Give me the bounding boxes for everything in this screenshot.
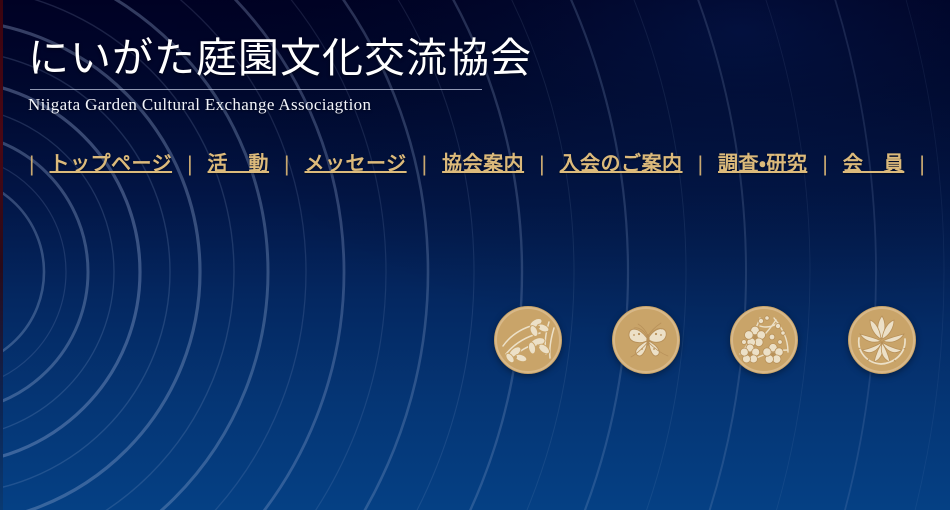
nav-join[interactable]: 入会のご案内 bbox=[546, 152, 697, 176]
left-edge-accent-stripe bbox=[0, 0, 3, 510]
bamboo-leaf-medallion-icon[interactable] bbox=[848, 306, 916, 374]
iris-flower-medallion-icon[interactable] bbox=[494, 306, 562, 374]
nav-separator: | bbox=[821, 154, 828, 175]
nav-message[interactable]: メッセージ bbox=[291, 152, 421, 176]
butterfly-crescent-moon-medallion-icon[interactable] bbox=[612, 306, 680, 374]
nav-research[interactable]: 調査・研究 bbox=[704, 152, 821, 176]
nav-separator: | bbox=[918, 154, 925, 175]
nav-members[interactable]: 会 員 bbox=[829, 152, 919, 176]
nav-separator: | bbox=[697, 154, 704, 175]
nav-separator: | bbox=[538, 154, 545, 175]
page-banner: にいがた庭園文化交流協会 Niigata Garden Cultural Exc… bbox=[0, 0, 950, 510]
site-identity: にいがた庭園文化交流協会 Niigata Garden Cultural Exc… bbox=[28, 36, 498, 115]
nav-about[interactable]: 協会案内 bbox=[428, 152, 538, 176]
page-title: にいがた庭園文化交流協会 bbox=[28, 36, 498, 82]
page-subtitle: Niigata Garden Cultural Exchange Associa… bbox=[28, 95, 498, 115]
nav-separator: | bbox=[28, 154, 35, 175]
nav-top-page[interactable]: トップページ bbox=[35, 152, 186, 176]
nav-activities[interactable]: 活 動 bbox=[194, 152, 284, 176]
nav-separator: | bbox=[186, 154, 193, 175]
nav-separator: | bbox=[421, 154, 428, 175]
primary-navigation: | トップページ | 活 動 | メッセージ | 協会案内 | 入会のご案内 |… bbox=[28, 152, 926, 176]
nav-separator: | bbox=[283, 154, 290, 175]
title-divider bbox=[30, 89, 482, 90]
seasonal-motif-medallions bbox=[494, 306, 916, 374]
plum-blossom-medallion-icon[interactable] bbox=[730, 306, 798, 374]
